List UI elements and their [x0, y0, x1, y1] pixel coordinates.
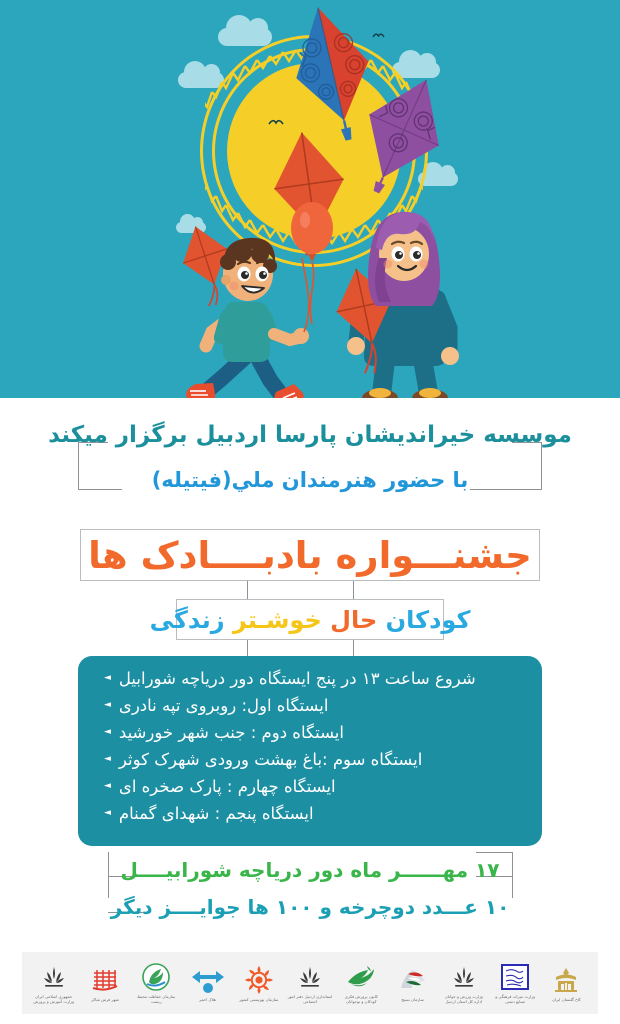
main-title: جشنـــواره بادبــــادک ها	[88, 537, 532, 574]
education-ministry-icon	[41, 962, 67, 992]
logo-caption: سازمان حفاظت محیط زیست	[133, 994, 179, 1004]
header-text-block: موسسه خیراندیشان پارسا اردبیل برگزار میک…	[0, 420, 620, 530]
logo-caption: جمهوری اسلامی ایران وزارت آموزش و پرورش	[31, 994, 77, 1004]
subtitle-part-2: حال	[322, 606, 378, 634]
detail-text: ایستگاه سوم :باغ بهشت ورودی شهرک کوثر	[119, 750, 422, 769]
detail-text: شروع ساعت ۱۳ در پنج ایستگاه دور دریاچه ش…	[119, 669, 476, 688]
subtitle-connector-left	[247, 640, 248, 657]
list-item: ◄ ایستگاه اول: روبروی تپه نادری	[104, 692, 516, 719]
organizer-line: موسسه خیراندیشان پارسا اردبیل برگزار میک…	[0, 422, 620, 448]
bullet-icon: ◄	[104, 673, 111, 683]
ground-strip	[0, 398, 620, 412]
list-item: ◄ شروع ساعت ۱۳ در پنج ایستگاه دور دریاچه…	[104, 665, 516, 692]
ostandari-icon	[297, 962, 323, 992]
logo-golestan-palace: کاخ گلستان ایران	[543, 958, 589, 1008]
main-title-box: جشنـــواره بادبــــادک ها	[80, 529, 540, 581]
logo-caption: سازمان بسیج	[401, 997, 424, 1002]
heritage-ministry-icon	[501, 962, 529, 992]
logo-ministry-education: جمهوری اسلامی ایران وزارت آموزش و پرورش	[31, 958, 77, 1008]
logo-caption: کانون پرورش فکری کودکان و نوجوانان	[338, 994, 384, 1004]
subtitle: کودکان حال خوشـتر زندگی	[150, 608, 471, 632]
golestan-palace-icon	[551, 965, 581, 995]
logo-behzisti: سازمان بهزیستی کشور	[236, 958, 282, 1008]
event-prize-line: ۱۰ عـــدد دوچرخه و ۱۰۰ ها جوایــــز دیگر	[0, 895, 620, 919]
sport-ministry-icon	[451, 962, 477, 992]
logo-caption: وزارت میراث فرهنگی و صنایع دستی	[492, 994, 538, 1004]
logo-ostandari-ardabil: استانداری اردبیل دفتر امور اجتماعی	[287, 958, 333, 1008]
logo-kanoon-parvaresh: کانون پرورش فکری کودکان و نوجوانان	[338, 958, 384, 1008]
logo-caption: هلال احمر	[199, 997, 216, 1002]
bullet-icon: ◄	[104, 754, 111, 764]
environment-icon	[141, 962, 171, 992]
logo-shahrfarsh-shaker: شهر فرش شاکر	[82, 958, 128, 1008]
basij-icon	[398, 965, 428, 995]
logo-basij: سازمان بسیج	[390, 958, 436, 1008]
logo-hilal-ahmar: هلال احمر	[185, 958, 231, 1008]
kite-purple-icon	[356, 72, 452, 198]
title-connector-left	[247, 581, 248, 600]
bullet-icon: ◄	[104, 781, 111, 791]
sponsor-logo-strip: کاخ گلستان ایران وزارت میراث فرهنگی و صن…	[22, 952, 598, 1014]
detail-text: ایستگاه اول: روبروی تپه نادری	[119, 696, 329, 715]
poster-root: موسسه خیراندیشان پارسا اردبیل برگزار میک…	[0, 0, 620, 1024]
kanoon-bird-icon	[345, 962, 377, 992]
bullet-icon: ◄	[104, 700, 111, 710]
list-item: ◄ ایستگاه سوم :باغ بهشت ورودی شهرک کوثر	[104, 746, 516, 773]
subtitle-box: کودکان حال خوشـتر زندگی	[176, 599, 444, 640]
subtitle-part-4: زندگی	[150, 606, 225, 634]
logo-caption: شهر فرش شاکر	[91, 997, 119, 1002]
behzisti-sun-icon	[244, 965, 274, 995]
event-details-panel: ◄ شروع ساعت ۱۳ در پنج ایستگاه دور دریاچه…	[78, 656, 542, 846]
girl-with-kite-character	[330, 206, 480, 412]
list-item: ◄ ایستگاه پنجم : شهدای گمنام	[104, 800, 516, 827]
logo-caption: استانداری اردبیل دفتر امور اجتماعی	[287, 994, 333, 1004]
logo-caption: سازمان بهزیستی کشور	[239, 997, 278, 1002]
bullet-icon: ◄	[104, 727, 111, 737]
detail-text: ایستگاه دوم : جنب شهر خورشید	[119, 723, 344, 742]
illustration-header	[0, 0, 620, 412]
logo-caption: کاخ گلستان ایران	[552, 997, 581, 1002]
shahrfarsh-icon	[90, 965, 120, 995]
title-connector-right	[353, 581, 354, 600]
logo-caption: وزارت ورزش و جوانان اداره کل استان اردبی…	[441, 994, 487, 1004]
list-item: ◄ ایستگاه دوم : جنب شهر خورشید	[104, 719, 516, 746]
hilal-ahmar-icon	[190, 965, 226, 995]
logo-ministry-sport-youth: وزارت ورزش و جوانان اداره کل استان اردبی…	[441, 958, 487, 1008]
event-date-line: ۱۷ مهــــــر ماه دور دریاچه شورابیــــل	[0, 858, 620, 882]
subtitle-connector-right	[353, 640, 354, 657]
bullet-icon: ◄	[104, 808, 111, 818]
detail-text: ایستگاه چهارم : پارک صخره ای	[119, 777, 336, 796]
subtitle-part-1: کودکان	[377, 606, 470, 634]
list-item: ◄ ایستگاه چهارم : پارک صخره ای	[104, 773, 516, 800]
guests-line: با حضور هنرمندان ملي(فیتیله)	[0, 468, 620, 492]
subtitle-part-3: خوشـتر	[225, 606, 322, 634]
logo-ministry-heritage: وزارت میراث فرهنگی و صنایع دستی	[492, 958, 538, 1008]
bottom-bracket-right-top	[476, 852, 512, 853]
logo-environment: سازمان حفاظت محیط زیست	[133, 958, 179, 1008]
boy-running-character	[178, 228, 328, 412]
detail-text: ایستگاه پنجم : شهدای گمنام	[119, 804, 314, 823]
